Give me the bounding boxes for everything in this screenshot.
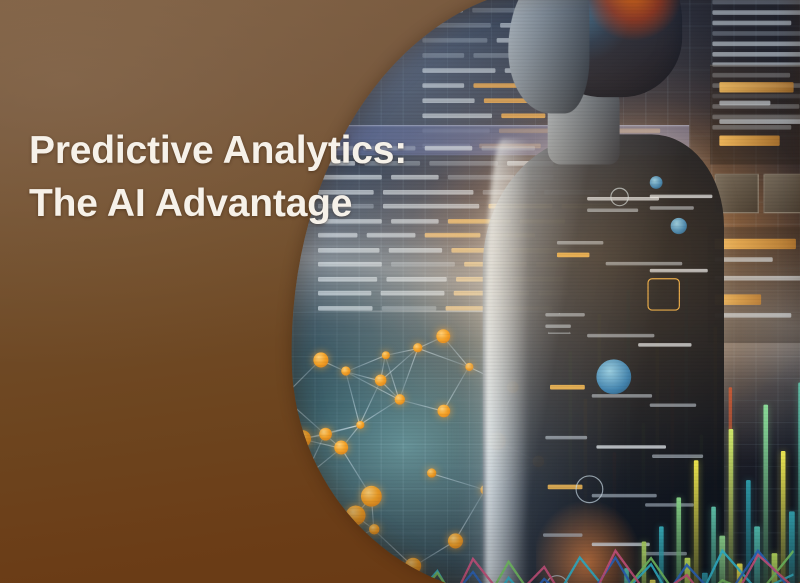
title-line-2: The AI Advantage — [29, 179, 359, 228]
graph-edge — [345, 371, 360, 425]
graph-node — [341, 366, 350, 375]
circuit-annotation-line — [650, 195, 713, 198]
circuit-annotation-line — [557, 253, 589, 258]
page-title: Predictive Analytics: The AI Advantage — [29, 126, 359, 228]
graph-node — [381, 351, 389, 359]
gold-badge-icon — [647, 278, 679, 310]
title-line-1: Predictive Analytics: — [29, 126, 359, 175]
circuit-annotation-line — [650, 269, 708, 272]
circuit-circle-icon — [576, 475, 604, 503]
circuit-annotation-line — [587, 334, 654, 337]
circuit-annotation-line — [650, 206, 694, 209]
graph-node — [319, 427, 332, 440]
blue-node-icon — [671, 218, 687, 234]
line-chart-labels — [295, 530, 794, 583]
document-thumbnail — [763, 174, 800, 213]
graph-node — [465, 362, 473, 370]
graph-node — [394, 394, 404, 404]
graph-node — [427, 468, 436, 477]
graph-node — [295, 468, 314, 487]
circuit-annotation-line — [557, 241, 603, 244]
circuit-annotation-line — [606, 262, 683, 265]
hero-image-blob — [282, 0, 800, 583]
graph-node — [413, 343, 422, 352]
circuit-circle-icon — [610, 188, 629, 207]
graph-node — [361, 486, 382, 507]
graph-node — [437, 404, 450, 417]
circuit-annotation-line — [545, 436, 587, 439]
graph-node — [334, 441, 348, 455]
graph-edge — [346, 355, 386, 373]
graph-node — [293, 430, 310, 447]
graph-node — [282, 391, 288, 401]
circuit-annotation-line — [638, 343, 691, 346]
graph-node — [356, 420, 364, 428]
graph-node — [436, 329, 450, 343]
circuit-annotation-line — [587, 209, 638, 212]
graph-node — [313, 352, 328, 367]
graph-edge — [283, 397, 326, 435]
graph-node — [345, 505, 365, 525]
blue-node-icon — [650, 176, 663, 189]
circuit-annotation-line — [550, 385, 585, 390]
circuit-annotation-line — [545, 313, 584, 316]
slide-canvas: Predictive Analytics: The AI Advantage — [0, 0, 800, 583]
hero-image-content — [282, 0, 800, 583]
graph-node — [375, 374, 387, 386]
